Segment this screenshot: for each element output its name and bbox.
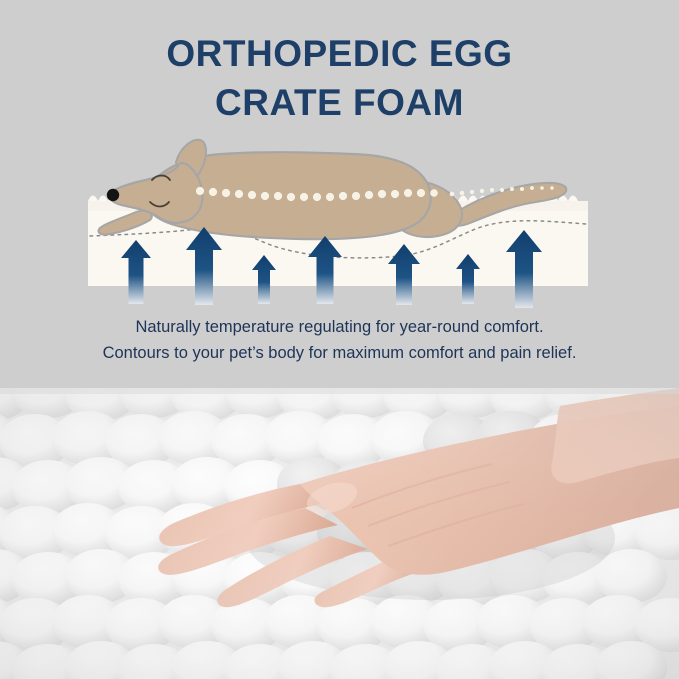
dog-foam-illustration [0, 128, 679, 313]
product-infographic-page: ORTHOPEDIC EGG CRATE FOAM [0, 0, 679, 679]
title-line-1: ORTHOPEDIC EGG [166, 33, 512, 74]
caption-line-1: Naturally temperature regulating for yea… [0, 314, 679, 340]
foam-photo-svg [0, 388, 679, 679]
dog-nose [107, 189, 119, 201]
foam-photo-panel [0, 388, 679, 679]
title-line-2: CRATE FOAM [0, 79, 679, 128]
caption-line-2: Contours to your pet’s body for maximum … [0, 340, 679, 366]
illustration-svg [0, 128, 679, 313]
photo-vignette [0, 388, 679, 679]
infographic-panel: ORTHOPEDIC EGG CRATE FOAM [0, 0, 679, 388]
page-title: ORTHOPEDIC EGG CRATE FOAM [0, 30, 679, 128]
photo-top-blend [0, 388, 679, 394]
caption-block: Naturally temperature regulating for yea… [0, 314, 679, 366]
